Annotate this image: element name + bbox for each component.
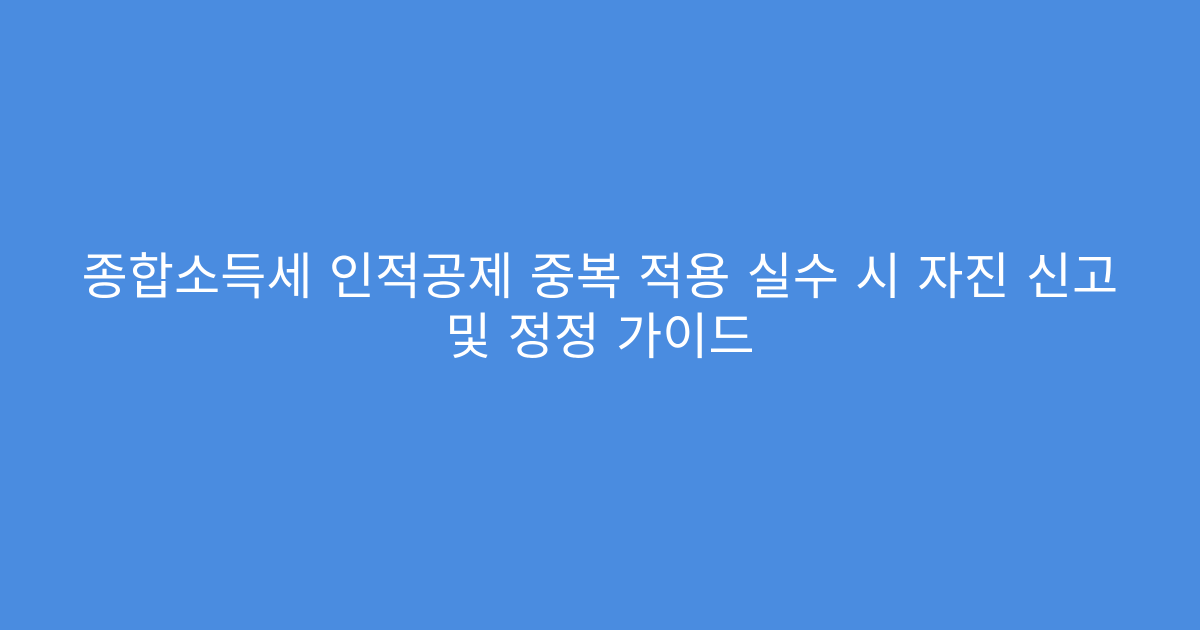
og-card: 종합소득세 인적공제 중복 적용 실수 시 자진 신고 및 정정 가이드 — [0, 0, 1200, 630]
page-title: 종합소득세 인적공제 중복 적용 실수 시 자진 신고 및 정정 가이드 — [65, 247, 1135, 367]
headline-block: 종합소득세 인적공제 중복 적용 실수 시 자진 신고 및 정정 가이드 — [65, 247, 1135, 367]
